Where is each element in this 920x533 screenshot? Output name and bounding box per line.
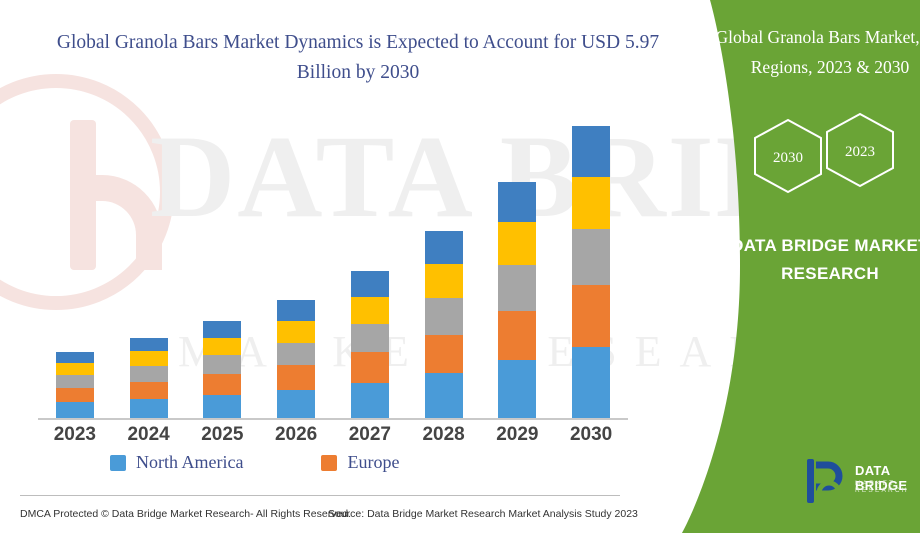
legend-item[interactable]: Europe — [321, 452, 399, 473]
poster-root: DATA BRIDGE MARKET RESEARCH Global Grano… — [0, 0, 920, 533]
bar-segment — [498, 182, 536, 223]
x-axis-tick-label: 2029 — [485, 424, 549, 446]
bar-segment — [56, 388, 94, 402]
bar-segment — [351, 383, 389, 418]
footer-copyright: DMCA Protected © Data Bridge Market Rese… — [20, 508, 351, 520]
bar-segment — [203, 355, 241, 374]
x-axis-tick-label: 2030 — [559, 424, 623, 446]
bar-segment — [572, 347, 610, 419]
bar-series-container — [38, 110, 628, 418]
bar-column — [572, 110, 610, 418]
bar-segment — [572, 229, 610, 285]
bar-segment — [277, 343, 315, 366]
bar-segment — [56, 402, 94, 418]
hexagon-year-badges: 2030 2023 — [745, 112, 920, 207]
x-axis-tick-label: 2023 — [43, 424, 107, 446]
legend-swatch — [110, 455, 126, 471]
bar-segment — [130, 366, 168, 382]
bar-segment — [277, 365, 315, 390]
bar-segment — [351, 352, 389, 383]
x-axis-tick-label: 2028 — [412, 424, 476, 446]
plot-region — [38, 110, 628, 420]
bar-segment — [498, 311, 536, 361]
x-axis-tick-label: 2027 — [338, 424, 402, 446]
bar-segment — [130, 399, 168, 418]
bar-segment — [425, 298, 463, 335]
svg-text:2023: 2023 — [845, 144, 875, 160]
legend-item[interactable]: North America — [110, 452, 243, 473]
svg-text:2030: 2030 — [773, 150, 803, 166]
bar-segment — [425, 231, 463, 264]
bar-column — [277, 110, 315, 418]
bar-segment — [498, 265, 536, 311]
bar-column — [351, 110, 389, 418]
bar-segment — [203, 395, 241, 418]
x-axis-tick-label: 2026 — [264, 424, 328, 446]
panel-title: Global Granola Bars Market, By Regions, … — [705, 22, 920, 82]
bar-segment — [203, 321, 241, 338]
legend-label: North America — [136, 452, 243, 473]
legend-label: Europe — [347, 452, 399, 473]
x-axis-tick-label: 2024 — [117, 424, 181, 446]
bar-segment — [425, 373, 463, 418]
bar-segment — [351, 324, 389, 353]
bar-segment — [203, 338, 241, 356]
bar-segment — [498, 360, 536, 418]
x-axis-tick-label: 2025 — [190, 424, 254, 446]
bar-segment — [130, 338, 168, 352]
x-axis-tick-labels: 20232024202520262027202820292030 — [38, 424, 628, 446]
bar-column — [56, 110, 94, 418]
bar-column — [498, 110, 536, 418]
legend-swatch — [321, 455, 337, 471]
bar-segment — [56, 352, 94, 363]
bar-segment — [498, 222, 536, 265]
chart-area — [28, 110, 638, 420]
bar-segment — [277, 390, 315, 418]
x-axis-line — [38, 418, 628, 420]
bar-segment — [572, 285, 610, 347]
footer-source: Source: Data Bridge Market Research Mark… — [328, 508, 638, 520]
bar-segment — [130, 382, 168, 399]
bar-segment — [277, 300, 315, 321]
bar-segment — [425, 264, 463, 298]
bar-segment — [56, 363, 94, 375]
bar-segment — [425, 335, 463, 374]
bar-column — [130, 110, 168, 418]
chart-legend: North AmericaEurope — [110, 452, 530, 473]
bar-segment — [572, 126, 610, 177]
panel-brand-line2: RESEARCH — [781, 264, 879, 283]
bar-column — [425, 110, 463, 418]
footer-divider — [20, 495, 620, 496]
logo-mark-icon — [805, 457, 849, 505]
bar-segment — [277, 321, 315, 343]
bar-segment — [351, 271, 389, 297]
bar-column — [203, 110, 241, 418]
page-title: Global Granola Bars Market Dynamics is E… — [28, 28, 688, 88]
bar-segment — [572, 177, 610, 230]
bar-segment — [130, 351, 168, 366]
brand-logo: DATA BRIDGE MARKET RESEARCH — [805, 455, 915, 511]
bar-segment — [351, 297, 389, 324]
bar-segment — [203, 374, 241, 395]
panel-brand: DATA BRIDGE MARKET RESEARCH — [705, 232, 920, 288]
panel-brand-line1: DATA BRIDGE MARKET — [731, 236, 920, 255]
logo-subtext: MARKET RESEARCH — [855, 480, 915, 494]
bar-segment — [56, 375, 94, 388]
